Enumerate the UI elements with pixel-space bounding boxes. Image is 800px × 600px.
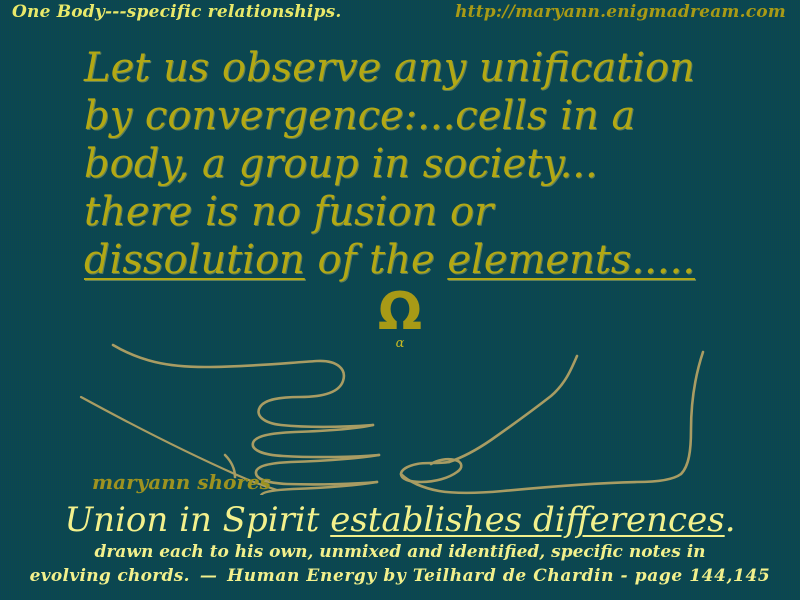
- quote-line-5-middle: of the: [305, 237, 448, 283]
- quote-line-2: by convergence:...cells in a: [84, 92, 764, 140]
- quote-line-4-text: there is no fusion or: [84, 189, 493, 235]
- footer-note-line-1: drawn each to his own, unmixed and ident…: [0, 540, 800, 564]
- quote-line-3-text: body, a group in society...: [84, 141, 598, 187]
- quote-line-1: Let us observe any unification: [84, 44, 764, 92]
- quote-line-3: body, a group in society...: [84, 140, 764, 188]
- tagline-part-1: Union in Spirit: [64, 500, 330, 540]
- tagline: Union in Spirit establishes differences.: [0, 500, 800, 540]
- foot-line-drawing: [395, 350, 785, 495]
- omega-icon: Ω: [0, 286, 800, 338]
- artist-signature: maryann shores: [92, 470, 271, 494]
- quote-line-5: dissolution of the elements.....: [84, 236, 764, 284]
- quote-emphasis-elements: elements.....: [447, 237, 695, 283]
- quote-emphasis-dissolution: dissolution: [84, 237, 305, 283]
- quote-line-2-text: by convergence:...cells in a: [84, 93, 635, 139]
- em-dash-icon: —: [190, 566, 227, 586]
- tagline-part-3: .: [725, 500, 736, 540]
- website-url[interactable]: http://maryann.enigmadream.com: [455, 2, 786, 22]
- source-citation: Human Energy by Teilhard de Chardin - pa…: [227, 566, 770, 586]
- omega-symbol-group: Ω α: [0, 286, 800, 351]
- quote-line-1-text: Let us observe any unification: [84, 45, 695, 91]
- page-caption: One Body---specific relationships.: [12, 2, 342, 22]
- footer-block: Union in Spirit establishes differences.…: [0, 500, 800, 588]
- footer-note-line-2: evolving chords.—Human Energy by Teilhar…: [0, 564, 800, 588]
- alpha-icon: α: [0, 336, 800, 351]
- poster-canvas: One Body---specific relationships. http:…: [0, 0, 800, 600]
- quotation-block: Let us observe any unification by conver…: [84, 44, 764, 284]
- quote-line-4: there is no fusion or: [84, 188, 764, 236]
- footer-note-line-2-text: evolving chords.: [30, 566, 190, 586]
- tagline-emphasis: establishes differences: [330, 500, 724, 540]
